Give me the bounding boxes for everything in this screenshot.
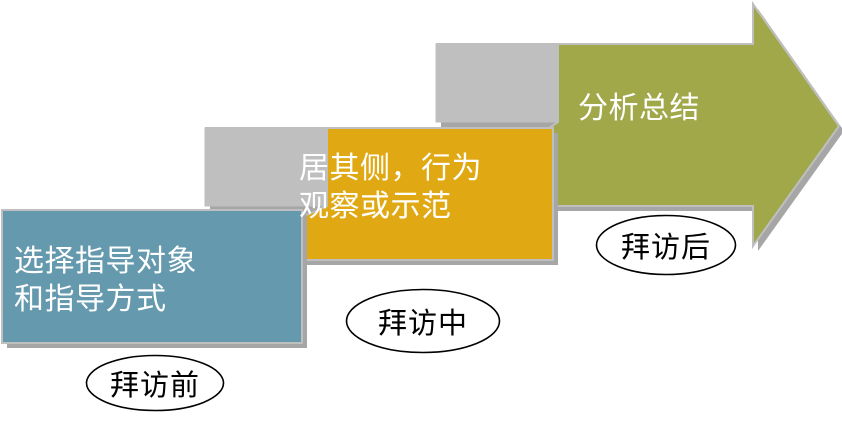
phase-callout-before[interactable]: 拜访前 (85, 354, 225, 412)
phase-callout-during[interactable]: 拜访中 (345, 288, 501, 354)
step-1-shape[interactable] (2, 210, 307, 348)
phase-3-text: 拜访后 (621, 224, 711, 266)
phase-1-text: 拜访前 (110, 362, 200, 404)
diagram-canvas: 选择指导对象 和指导方式 居其侧，行为 观察或示范 分析总结 拜访前 拜访中 拜… (0, 0, 842, 431)
step-1-body (2, 210, 302, 343)
phase-callout-after[interactable]: 拜访后 (595, 214, 737, 276)
phase-2-text: 拜访中 (378, 300, 468, 342)
